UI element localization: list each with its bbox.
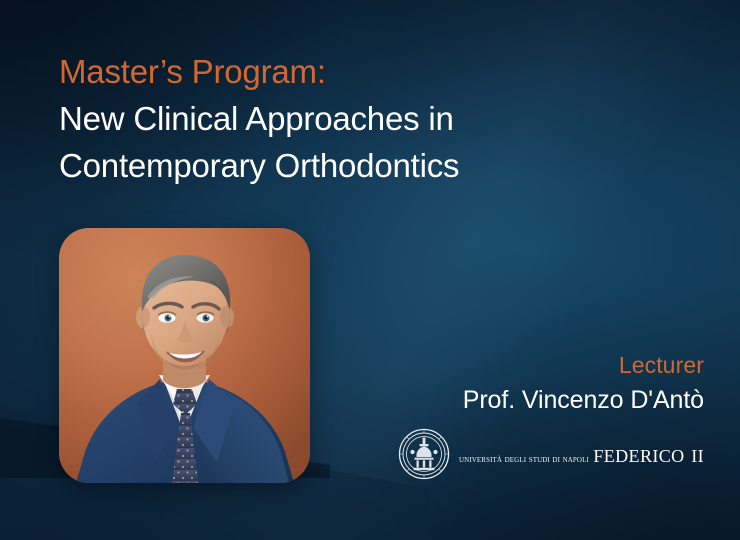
lecturer-name: Prof. Vincenzo D'Antò xyxy=(463,384,704,417)
headline-kicker: Master’s Program: xyxy=(59,48,619,95)
university-seal-icon xyxy=(398,428,450,480)
lecturer-block: Lecturer Prof. Vincenzo D'Antò xyxy=(463,352,704,417)
university-brand-line: Federico II xyxy=(593,441,704,468)
university-name-line: Università degli Studi di Napoli xyxy=(459,454,589,465)
lecturer-portrait-photo xyxy=(59,228,310,483)
lecturer-label: Lecturer xyxy=(463,352,704,379)
promo-poster: Master’s Program: New Clinical Approache… xyxy=(0,0,740,540)
university-wordmark: Università degli Studi di Napoli Federic… xyxy=(459,441,704,468)
page-title: Master’s Program: New Clinical Approache… xyxy=(59,48,619,189)
university-logo: Università degli Studi di Napoli Federic… xyxy=(398,428,704,480)
headline-line-2: Contemporary Orthodontics xyxy=(59,142,619,189)
headline-line-1: New Clinical Approaches in xyxy=(59,95,619,142)
